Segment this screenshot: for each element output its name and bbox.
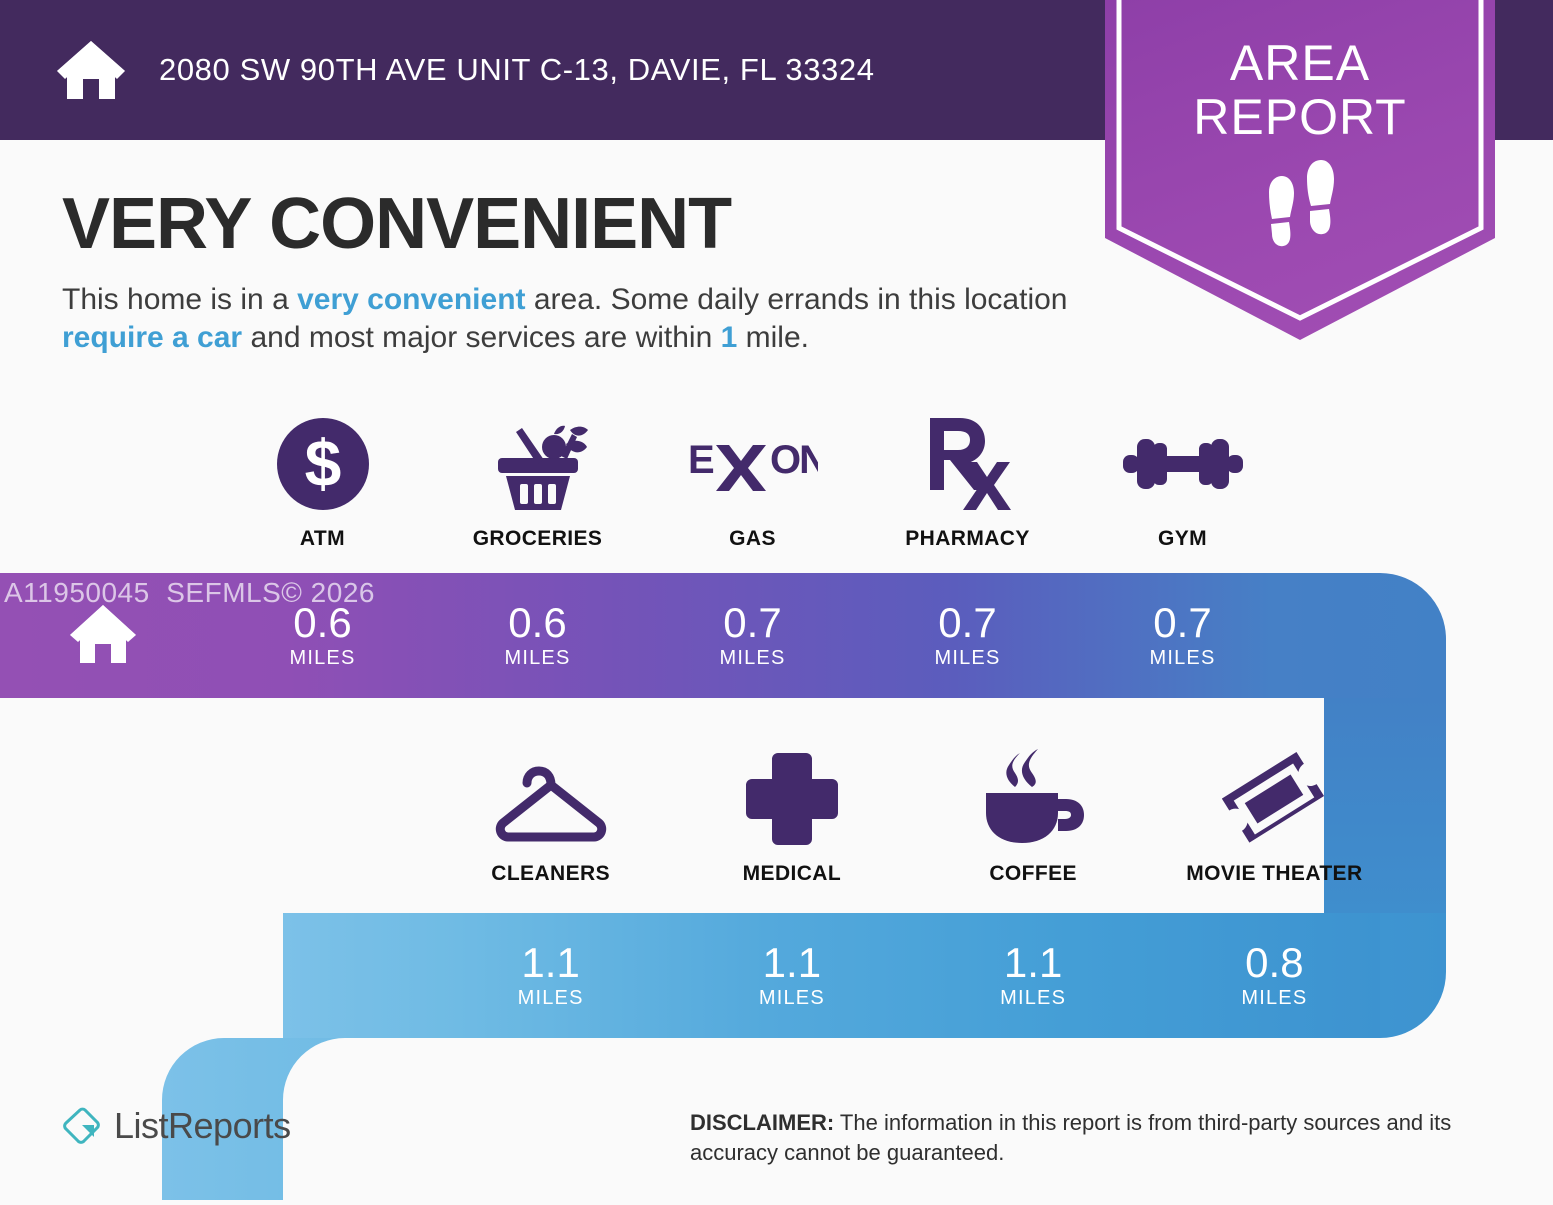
distance-unit: MILES: [1149, 647, 1215, 670]
disclaimer: DISCLAIMER: The information in this repo…: [690, 1108, 1500, 1168]
hero-description: This home is in a very convenient area. …: [62, 281, 1102, 357]
svg-text:E: E: [688, 438, 714, 482]
amenity-label: PHARMACY: [905, 527, 1030, 551]
clothes-hanger-icon: [487, 750, 615, 848]
distance-unit: MILES: [289, 647, 355, 670]
amenity-label: MOVIE THEATER: [1186, 862, 1362, 886]
amenity-icon-row-1: $ ATM: [215, 415, 1290, 551]
distance-cell: 1.1 MILES: [913, 913, 1154, 1038]
distance-value: 1.1: [521, 941, 579, 985]
desc-part-4: mile.: [737, 321, 809, 354]
distance-value: 0.7: [723, 601, 781, 645]
amenity-label: GROCERIES: [473, 527, 603, 551]
amenity-groceries: GROCERIES: [430, 415, 645, 551]
amenity-label: GYM: [1158, 527, 1207, 551]
page-title: VERY CONVENIENT: [62, 185, 1102, 263]
coffee-cup-icon: [980, 750, 1086, 848]
listreports-house-icon: [60, 1105, 102, 1147]
distance-unit: MILES: [1241, 987, 1307, 1010]
grocery-basket-icon: [480, 415, 596, 513]
listreports-logo: ListReports: [60, 1105, 291, 1147]
distance-cell: 0.7 MILES: [860, 573, 1075, 698]
amenity-label: GAS: [729, 527, 776, 551]
distance-unit: MILES: [518, 987, 584, 1010]
hero-section: VERY CONVENIENT This home is in a very c…: [62, 185, 1102, 357]
distance-row-2: 1.1 MILES 1.1 MILES 1.1 MILES 0.8 MILES: [430, 913, 1395, 1038]
distance-unit: MILES: [504, 647, 570, 670]
distance-unit: MILES: [759, 987, 825, 1010]
amenity-label: COFFEE: [989, 862, 1077, 886]
mls-watermark: A11950045 SEFMLS© 2026: [4, 577, 375, 609]
amenity-icon-row-2: CLEANERS MEDICAL COFFEE: [430, 750, 1395, 886]
distance-cell: 0.7 MILES: [645, 573, 860, 698]
header-bar: 2080 SW 90TH AVE UNIT C-13, DAVIE, FL 33…: [0, 0, 1105, 140]
home-icon: [55, 39, 127, 101]
distance-value: 1.1: [1004, 941, 1062, 985]
amenity-cleaners: CLEANERS: [430, 750, 671, 886]
desc-highlight-1: very convenient: [297, 283, 525, 316]
distance-value: 0.6: [508, 601, 566, 645]
movie-ticket-icon: [1222, 750, 1326, 848]
amenity-label: ATM: [300, 527, 345, 551]
dollar-circle-icon: $: [275, 415, 371, 513]
disclaimer-label: DISCLAIMER:: [690, 1110, 834, 1135]
desc-highlight-2: require a car: [62, 321, 242, 354]
distance-value: 1.1: [763, 941, 821, 985]
listreports-wordmark: ListReports: [114, 1105, 291, 1147]
distance-value: 0.8: [1245, 941, 1303, 985]
amenity-movie-theater: MOVIE THEATER: [1154, 750, 1395, 886]
distance-value: 0.7: [938, 601, 996, 645]
footprints-icon: [1255, 160, 1345, 255]
svg-text:$: $: [304, 426, 341, 500]
desc-part-3: and most major services are within: [242, 321, 721, 354]
amenity-coffee: COFFEE: [913, 750, 1154, 886]
distance-unit: MILES: [1000, 987, 1066, 1010]
medical-cross-icon: [744, 750, 840, 848]
desc-part-2: area. Some daily errands in this locatio…: [526, 283, 1068, 316]
distance-cell: 0.8 MILES: [1154, 913, 1395, 1038]
distance-unit: MILES: [719, 647, 785, 670]
amenity-label: MEDICAL: [743, 862, 841, 886]
amenity-gym: GYM: [1075, 415, 1290, 551]
amenity-medical: MEDICAL: [671, 750, 912, 886]
area-report-badge: AREA REPORT: [1105, 0, 1495, 340]
distance-row-1: 0.6 MILES 0.6 MILES 0.7 MILES 0.7 MILES …: [215, 573, 1290, 698]
distance-value: 0.7: [1153, 601, 1211, 645]
header-right-fill: [1495, 0, 1553, 140]
distance-cell: 1.1 MILES: [671, 913, 912, 1038]
distance-cell: 0.6 MILES: [430, 573, 645, 698]
home-marker-icon: [68, 603, 138, 665]
exxon-logo-icon: E ON: [688, 415, 818, 513]
property-address: 2080 SW 90TH AVE UNIT C-13, DAVIE, FL 33…: [159, 52, 875, 88]
desc-part-1: This home is in a: [62, 283, 297, 316]
badge-title: AREA REPORT: [1105, 36, 1495, 144]
distance-unit: MILES: [934, 647, 1000, 670]
amenity-gas: E ON GAS: [645, 415, 860, 551]
amenity-label: CLEANERS: [491, 862, 610, 886]
distance-cell: 1.1 MILES: [430, 913, 671, 1038]
dumbbell-icon: [1123, 415, 1243, 513]
distance-cell: 0.7 MILES: [1075, 573, 1290, 698]
desc-highlight-3: 1: [721, 321, 738, 354]
rx-icon: [922, 415, 1014, 513]
amenity-atm: $ ATM: [215, 415, 430, 551]
amenity-pharmacy: PHARMACY: [860, 415, 1075, 551]
svg-text:ON: ON: [770, 438, 818, 482]
